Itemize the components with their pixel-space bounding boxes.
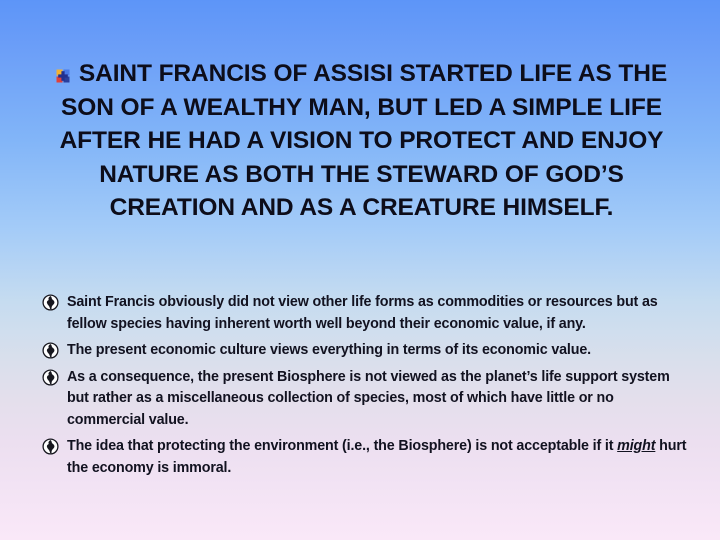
list-item-text: The present economic culture views every…: [67, 340, 687, 362]
list-item-text: The idea that protecting the environment…: [67, 436, 687, 479]
globe-icon: [42, 342, 59, 359]
emphasised-word: might: [617, 438, 655, 454]
list-item-text: As a consequence, the present Biosphere …: [67, 367, 687, 432]
list-item-text: Saint Francis obviously did not view oth…: [67, 292, 687, 335]
list-item: The idea that protecting the environment…: [42, 436, 687, 479]
list-item-text-before: The idea that protecting the environment…: [67, 438, 617, 454]
globe-icon: [42, 438, 59, 455]
page-title: SAINT FRANCIS OF ASSISI STARTED LIFE AS …: [34, 57, 689, 225]
list-item: Saint Francis obviously did not view oth…: [42, 292, 687, 335]
slide-title-block: SAINT FRANCIS OF ASSISI STARTED LIFE AS …: [34, 57, 689, 225]
list-item: The present economic culture views every…: [42, 340, 687, 362]
powerpoint-multicolor-bullet-icon: [56, 59, 70, 73]
presentation-slide: SAINT FRANCIS OF ASSISI STARTED LIFE AS …: [0, 0, 720, 540]
globe-icon: [42, 369, 59, 386]
list-item: As a consequence, the present Biosphere …: [42, 367, 687, 432]
bullet-list: Saint Francis obviously did not view oth…: [42, 292, 687, 484]
globe-icon: [42, 294, 59, 311]
slide-title-text: SAINT FRANCIS OF ASSISI STARTED LIFE AS …: [60, 60, 668, 221]
